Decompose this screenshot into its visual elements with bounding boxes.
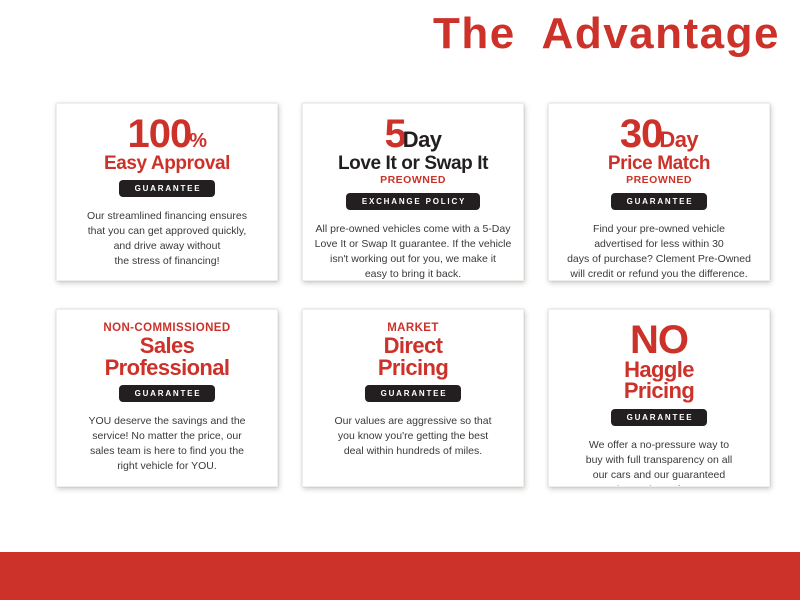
advantage-card-sales-professional[interactable]: NON-COMMISSIONED Sales Professional GUAR… — [56, 309, 278, 487]
advantage-card-easy-approval[interactable]: 100% Easy Approval GUARANTEE Our streaml… — [56, 103, 278, 281]
advantage-card-price-match[interactable]: 30Day Price Match PREOWNED GUARANTEE Fin… — [548, 103, 770, 281]
card-heading-secondary: Love It or Swap It — [338, 154, 488, 173]
card-heading: 100% Easy Approval — [104, 116, 230, 173]
card-heading-primary: 100 — [127, 116, 191, 153]
card-heading-primary-suffix: Day — [659, 130, 698, 150]
card-heading-tertiary: PREOWNED — [380, 174, 446, 187]
advantage-card-no-haggle-pricing[interactable]: NO Haggle Pricing GUARANTEE We offer a n… — [548, 309, 770, 487]
card-heading: MARKET Direct Pricing — [378, 322, 448, 378]
card-body-text: YOU deserve the savings and the service!… — [88, 414, 245, 474]
card-badge: GUARANTEE — [365, 385, 462, 402]
card-heading-line2: Professional — [105, 357, 230, 379]
card-body-text: Our values are aggressive so that you kn… — [335, 414, 492, 459]
card-body-text: We offer a no-pressure way to buy with f… — [586, 438, 733, 487]
card-heading: NON-COMMISSIONED Sales Professional — [103, 322, 230, 378]
card-badge: GUARANTEE — [119, 180, 216, 197]
footer-accent-bar — [0, 552, 800, 600]
advantage-card-direct-pricing[interactable]: MARKET Direct Pricing GUARANTEE Our valu… — [302, 309, 524, 487]
card-heading-primary: 30 — [620, 116, 663, 153]
card-badge: GUARANTEE — [611, 193, 708, 210]
card-heading: 5Day Love It or Swap It PREOWNED — [338, 116, 488, 186]
card-badge: GUARANTEE — [119, 385, 216, 402]
card-heading-line1: Haggle — [624, 359, 694, 381]
card-heading-line2: Pricing — [378, 357, 448, 379]
card-heading-line1: Sales — [140, 335, 195, 357]
card-heading-tertiary: PREOWNED — [626, 174, 692, 187]
page-header: The Advantage — [0, 10, 780, 58]
card-heading-primary-suffix: % — [189, 132, 206, 150]
advantage-card-love-it-or-swap-it[interactable]: 5Day Love It or Swap It PREOWNED EXCHANG… — [302, 103, 524, 281]
advantage-page: The Advantage 100% Easy Approval GUARANT… — [0, 0, 800, 600]
card-heading-line1: Direct — [384, 335, 443, 357]
card-heading-secondary: Price Match — [608, 154, 710, 173]
card-badge: GUARANTEE — [611, 409, 708, 426]
card-heading: NO Haggle Pricing — [624, 322, 694, 402]
card-heading-primary-row: 5Day — [384, 116, 441, 153]
card-badge: EXCHANGE POLICY — [346, 193, 480, 210]
card-heading-primary-row: 30Day — [620, 116, 698, 153]
advantage-card-grid: 100% Easy Approval GUARANTEE Our streaml… — [56, 103, 770, 487]
card-body-text: Our streamlined financing ensures that y… — [87, 209, 247, 269]
card-body-text: Find your pre-owned vehicle advertised f… — [567, 222, 751, 281]
card-body-text: All pre-owned vehicles come with a 5-Day… — [315, 222, 512, 281]
card-heading-primary-row: 100% — [127, 116, 206, 153]
card-heading: 30Day Price Match PREOWNED — [608, 116, 710, 186]
card-heading-primary-suffix: Day — [403, 130, 442, 150]
card-heading-line2: Pricing — [624, 380, 694, 402]
card-heading-secondary: Easy Approval — [104, 154, 230, 173]
page-title: The Advantage — [433, 10, 780, 58]
card-heading-primary: NO — [630, 322, 688, 359]
card-heading-primary-row: NO — [630, 322, 688, 359]
